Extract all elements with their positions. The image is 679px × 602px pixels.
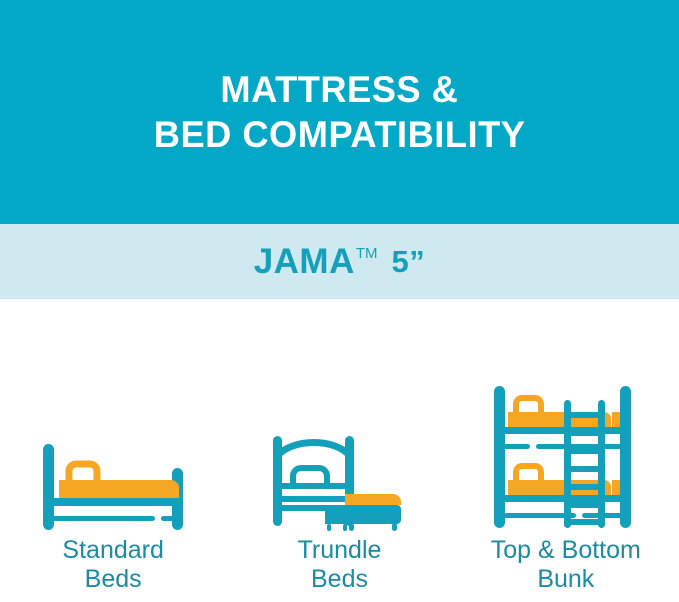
trundle-bed-icon [259, 430, 419, 532]
bed-type-bunk: Top & Bottom Bunk [453, 299, 679, 602]
bed-type-standard: Standard Beds [0, 299, 226, 602]
bed-type-label-standard: Standard Beds [0, 536, 226, 602]
product-brand-name: JAMA [254, 244, 355, 280]
standard-bed-icon [35, 436, 191, 532]
product-size-label: 5” [392, 244, 426, 280]
bed-type-trundle: Trundle Beds [226, 299, 452, 602]
bed-type-grid: Standard Beds [0, 299, 679, 602]
bed-type-label-bunk: Top & Bottom Bunk [453, 536, 679, 602]
bed-type-label-trundle: Trundle Beds [226, 536, 452, 602]
bunk-bed-icon [486, 382, 646, 532]
standard-bed-icon-holder [0, 311, 226, 536]
bunk-bed-icon-holder [453, 311, 679, 536]
product-name-group: JAMA TM 5” [254, 244, 426, 280]
trademark-symbol: TM [356, 246, 378, 262]
compatibility-content-area: Standard Beds [0, 299, 679, 602]
header-title-line-1: MATTRESS & [221, 67, 459, 112]
trundle-bed-icon-holder [226, 311, 452, 536]
header-banner: MATTRESS & BED COMPATIBILITY [0, 0, 679, 224]
product-band: JAMA TM 5” [0, 224, 679, 299]
mattress-bed-compatibility-infographic: MATTRESS & BED COMPATIBILITY JAMA TM 5” [0, 0, 679, 602]
header-title-line-2: BED COMPATIBILITY [154, 112, 526, 157]
